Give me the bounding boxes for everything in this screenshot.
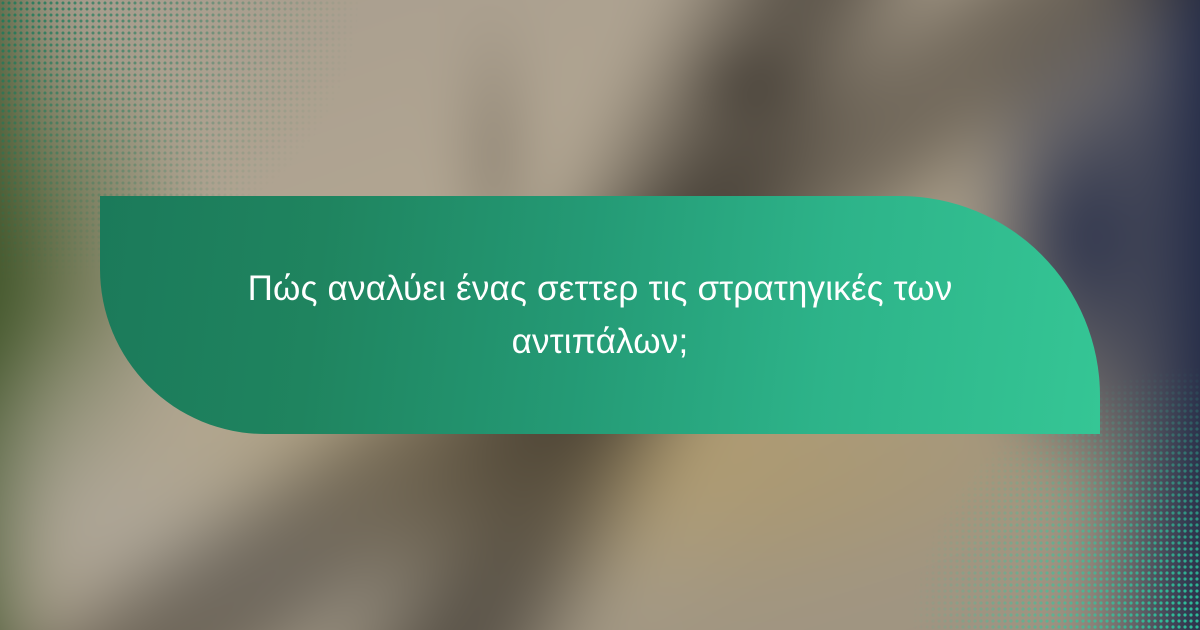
title-banner: Πώς αναλύει ένας σεττερ τις στρατηγικές … [100, 196, 1100, 434]
share-card: Πώς αναλύει ένας σεττερ τις στρατηγικές … [0, 0, 1200, 630]
page-title: Πώς αναλύει ένας σεττερ τις στρατηγικές … [218, 262, 982, 368]
